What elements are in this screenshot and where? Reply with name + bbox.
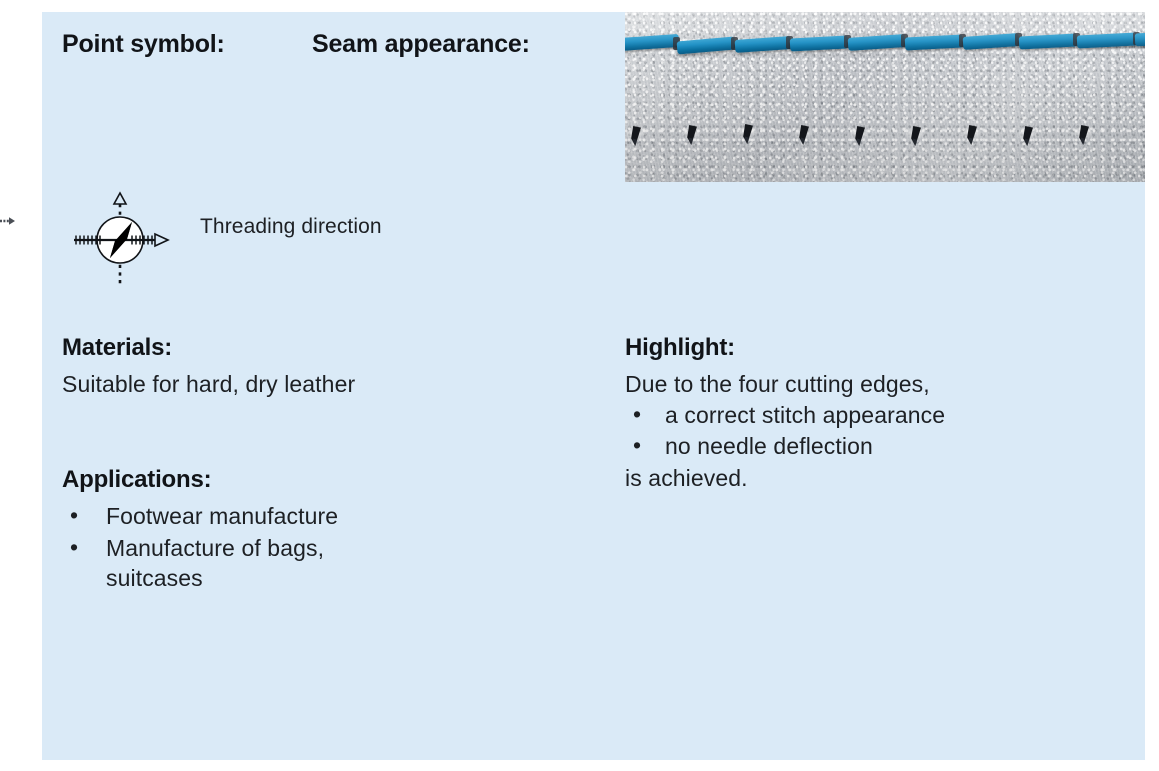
right-text-column: Highlight: Due to the four cutting edges…	[625, 334, 1125, 494]
edge-arrow-icon	[0, 215, 16, 227]
edge-arrow-mark	[0, 214, 16, 226]
applications-list: Footwear manufacture Manufacture of bags…	[62, 501, 602, 594]
materials-text: Suitable for hard, dry leather	[62, 369, 602, 400]
point-symbol-icon	[70, 190, 170, 290]
materials-title: Materials:	[62, 334, 602, 362]
point-symbol-heading: Point symbol:	[62, 30, 225, 59]
seam-appearance-heading: Seam appearance:	[312, 30, 530, 59]
info-panel: Point symbol: Seam appearance:	[42, 12, 1145, 760]
applications-block: Applications: Footwear manufacture Manuf…	[62, 466, 602, 594]
left-text-column: Materials: Suitable for hard, dry leathe…	[62, 334, 602, 595]
highlight-outro: is achieved.	[625, 463, 1125, 494]
applications-title: Applications:	[62, 466, 602, 494]
threading-direction-label: Threading direction	[200, 215, 382, 239]
materials-block: Materials: Suitable for hard, dry leathe…	[62, 334, 602, 400]
list-item: no needle deflection	[625, 431, 1125, 462]
list-item: Footwear manufacture	[62, 501, 602, 532]
point-symbol-diagram	[70, 190, 170, 290]
highlight-intro: Due to the four cutting edges,	[625, 369, 1125, 400]
highlight-title: Highlight:	[625, 334, 1125, 362]
highlight-block: Highlight: Due to the four cutting edges…	[625, 334, 1125, 494]
highlight-list: a correct stitch appearance no needle de…	[625, 400, 1125, 462]
seam-appearance-photo	[625, 12, 1145, 182]
list-item: Manufacture of bags, suitcases	[62, 533, 602, 594]
header-row: Point symbol: Seam appearance:	[62, 30, 662, 70]
photo-shading	[625, 12, 1145, 182]
list-item: a correct stitch appearance	[625, 400, 1125, 431]
